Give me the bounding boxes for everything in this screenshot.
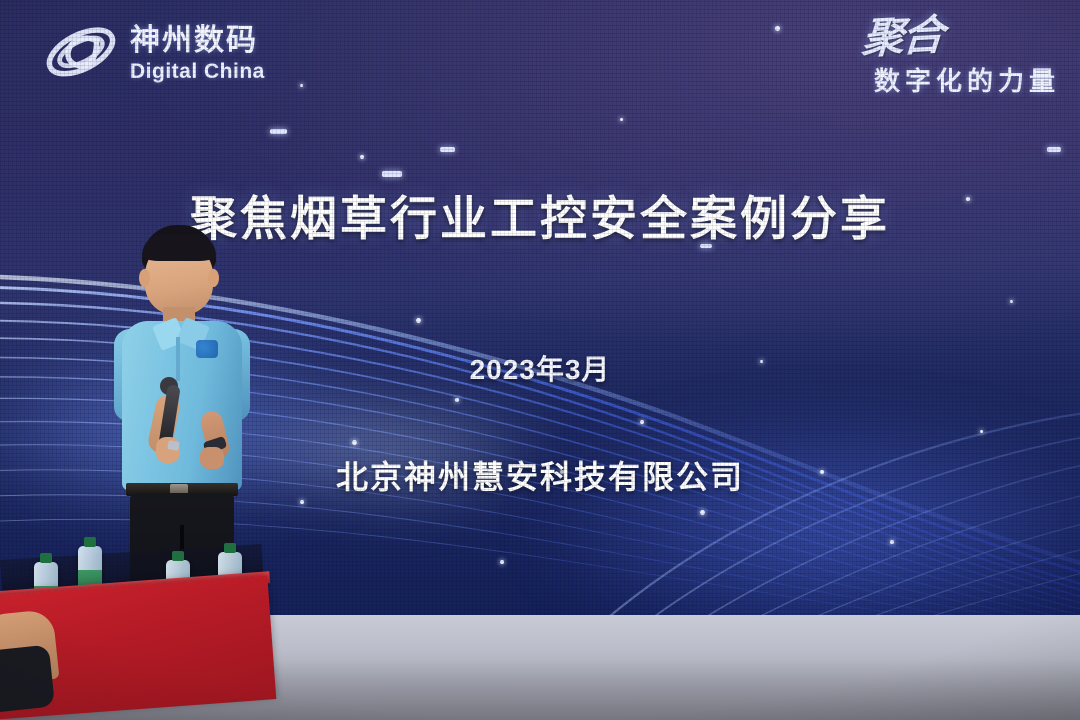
bottle-cap <box>40 553 52 563</box>
presenter-placket <box>176 337 180 381</box>
particle <box>270 129 287 134</box>
brand-wordmark: 神州数码 Digital China <box>130 22 265 82</box>
bottle-cap <box>224 543 236 553</box>
presenter-ear <box>208 269 219 287</box>
particle <box>620 118 623 121</box>
particle <box>300 84 303 87</box>
presenter-hand <box>200 447 224 469</box>
digital-china-spiral-icon <box>42 16 120 88</box>
brand-name-en: Digital China <box>130 61 265 82</box>
seated-attendee-clothing <box>0 645 55 714</box>
event-theme: 聚合 数字化的力量 <box>862 18 1060 98</box>
microphone-tip <box>167 440 179 451</box>
particle <box>440 147 455 152</box>
particle <box>775 26 780 31</box>
bottle-cap <box>172 551 184 561</box>
presenter-ear <box>139 269 150 287</box>
brand-logo: 神州数码 Digital China <box>42 16 265 88</box>
theme-calligraphy: 聚合 <box>860 16 943 59</box>
brand-name-cn: 神州数码 <box>130 26 265 56</box>
conference-stage-photo: 神州数码 Digital China 聚合 数字化的力量 聚焦烟草行业工控安全案… <box>0 0 1080 720</box>
presenter-chest-logo-icon <box>196 340 218 358</box>
bottle-cap <box>84 537 96 547</box>
presenter-hair-front <box>142 235 216 261</box>
particle <box>360 155 364 159</box>
presenter-polo-shirt <box>122 321 242 491</box>
particle <box>1047 147 1061 152</box>
particle <box>382 171 402 177</box>
theme-subtitle: 数字化的力量 <box>862 61 1060 98</box>
